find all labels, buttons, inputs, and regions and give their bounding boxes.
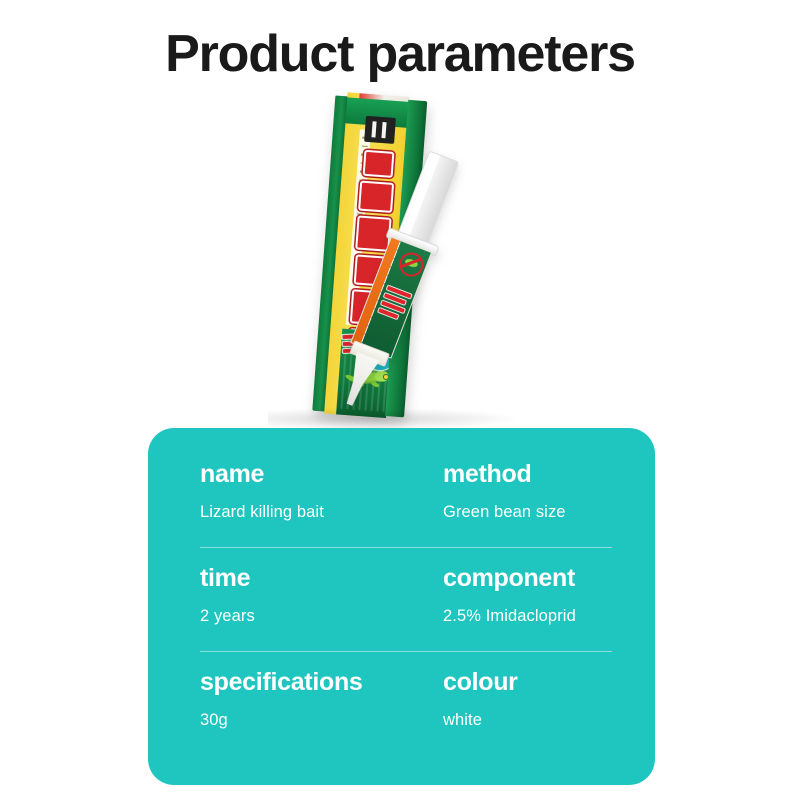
- brand-logo-icon: [364, 116, 396, 144]
- row-divider: [200, 651, 612, 653]
- parameter-value: 2 years: [200, 608, 443, 625]
- parameters-table: name Lizard killing bait method Green be…: [200, 456, 612, 729]
- parameter-cell-component: component 2.5% Imidacloprid: [443, 560, 643, 625]
- table-row: specifications 30g colour white: [200, 664, 612, 729]
- parameter-cell-method: method Green bean size: [443, 456, 643, 521]
- parameter-cell-specifications: specifications 30g: [200, 664, 443, 729]
- parameter-label: name: [200, 462, 443, 487]
- table-row: name Lizard killing bait method Green be…: [200, 456, 612, 560]
- parameter-cell-name: name Lizard killing bait: [200, 456, 443, 521]
- table-row: time 2 years component 2.5% Imidacloprid: [200, 560, 612, 664]
- parameter-value: white: [443, 712, 643, 729]
- row-divider: [200, 547, 612, 549]
- parameter-cell-time: time 2 years: [200, 560, 443, 625]
- parameter-value: Green bean size: [443, 504, 643, 521]
- parameter-value: 2.5% Imidacloprid: [443, 608, 643, 625]
- parameter-cell-colour: colour white: [443, 664, 643, 729]
- syringe-plunger: [397, 150, 459, 245]
- parameter-value: 30g: [200, 712, 443, 729]
- product-image: [250, 80, 570, 440]
- page-title: Product parameters: [0, 26, 800, 83]
- parameter-label: time: [200, 566, 443, 591]
- parameter-label: specifications: [200, 670, 443, 695]
- parameter-value: Lizard killing bait: [200, 504, 443, 521]
- parameter-label: colour: [443, 670, 643, 695]
- no-pest-icon: [396, 249, 427, 280]
- parameter-label: component: [443, 566, 643, 591]
- syringe-nozzle-tip: [338, 352, 380, 410]
- parameter-label: method: [443, 462, 643, 487]
- product-parameters-card: name Lizard killing bait method Green be…: [148, 428, 655, 785]
- gecko-silhouette-icon: [404, 257, 419, 268]
